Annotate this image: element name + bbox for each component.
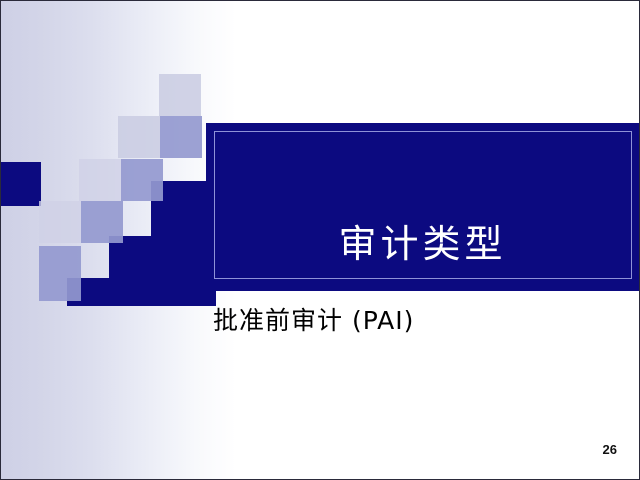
mosaic-square-mid-r4: [81, 201, 123, 243]
mosaic-square-pale-top: [159, 74, 201, 116]
page-subtitle: 批准前审计 (PAI): [213, 301, 414, 337]
mosaic-square-navy-left: [0, 162, 41, 206]
mosaic-square-pale-r3: [79, 159, 121, 201]
mosaic-square-mid-r2: [160, 116, 202, 158]
title-banner: 审计类型: [206, 123, 639, 291]
page-title: 审计类型: [206, 223, 639, 267]
mosaic-square-pale-r4: [39, 201, 81, 243]
slide-canvas: 审计类型 批准前审计 (PAI) 26: [0, 0, 640, 480]
mosaic-square-mid-r5: [39, 246, 81, 301]
mosaic-navy-field-lower: [67, 278, 216, 306]
mosaic-square-pale-r2: [118, 116, 160, 158]
decorative-mosaic: [1, 56, 216, 306]
mosaic-square-mid-r3: [121, 159, 163, 201]
mosaic-navy-field-mid: [109, 236, 216, 278]
page-number: 26: [603, 442, 617, 457]
